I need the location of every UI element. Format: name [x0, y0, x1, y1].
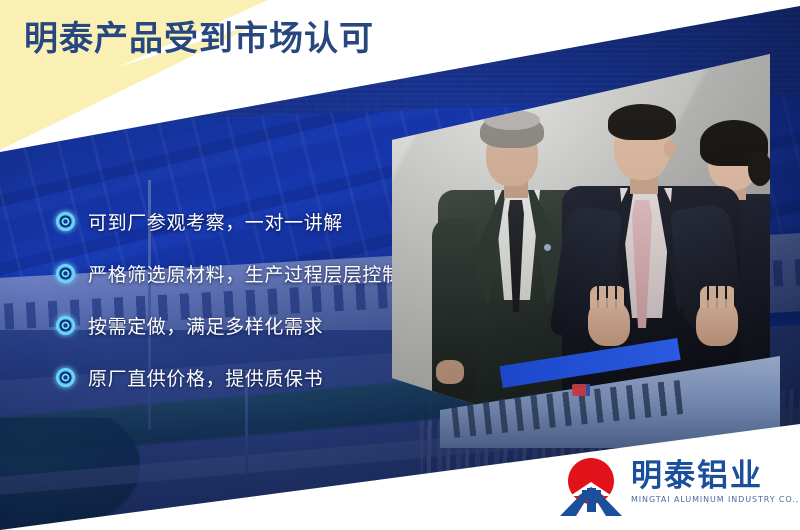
company-logo: 明泰铝业 MINGTAI ALUMINUM INDUSTRY CO., LTD: [560, 458, 785, 520]
list-item: 可到厂参观考察，一对一讲解: [56, 208, 402, 235]
target-ring-icon: [56, 368, 75, 387]
logo-name-cn: 明泰铝业: [631, 460, 800, 493]
feature-list: 可到厂参观考察，一对一讲解 严格筛选原材料，生产过程层层控制 按需定做，满足多样…: [56, 208, 402, 391]
logo-center-mark: [587, 488, 596, 512]
list-item: 按需定做，满足多样化需求: [56, 312, 402, 339]
feature-label: 原厂直供价格，提供质保书: [88, 364, 323, 391]
target-ring-icon: [56, 264, 75, 283]
feature-label: 可到厂参观考察，一对一讲解: [88, 208, 343, 235]
page-title: 明泰产品受到市场认可: [24, 22, 374, 58]
list-item: 严格筛选原材料，生产过程层层控制: [56, 260, 402, 287]
logo-name-en: MINGTAI ALUMINUM INDUSTRY CO., LTD: [631, 495, 800, 504]
feature-label: 严格筛选原材料，生产过程层层控制: [88, 260, 402, 287]
promo-banner: 明泰产品受到市场认可 可到厂参观考察，一对一讲解 严格筛选原材料，生产过程层层控…: [0, 0, 800, 530]
feature-label: 按需定做，满足多样化需求: [88, 312, 323, 339]
list-item: 原厂直供价格，提供质保书: [56, 364, 402, 391]
factory-wall-logo-inset: [572, 384, 624, 396]
target-ring-icon: [56, 212, 75, 231]
red-sun-blue-mountain-icon: [560, 458, 622, 516]
target-ring-icon: [56, 316, 75, 335]
logo-text-block: 明泰铝业 MINGTAI ALUMINUM INDUSTRY CO., LTD: [631, 458, 800, 504]
